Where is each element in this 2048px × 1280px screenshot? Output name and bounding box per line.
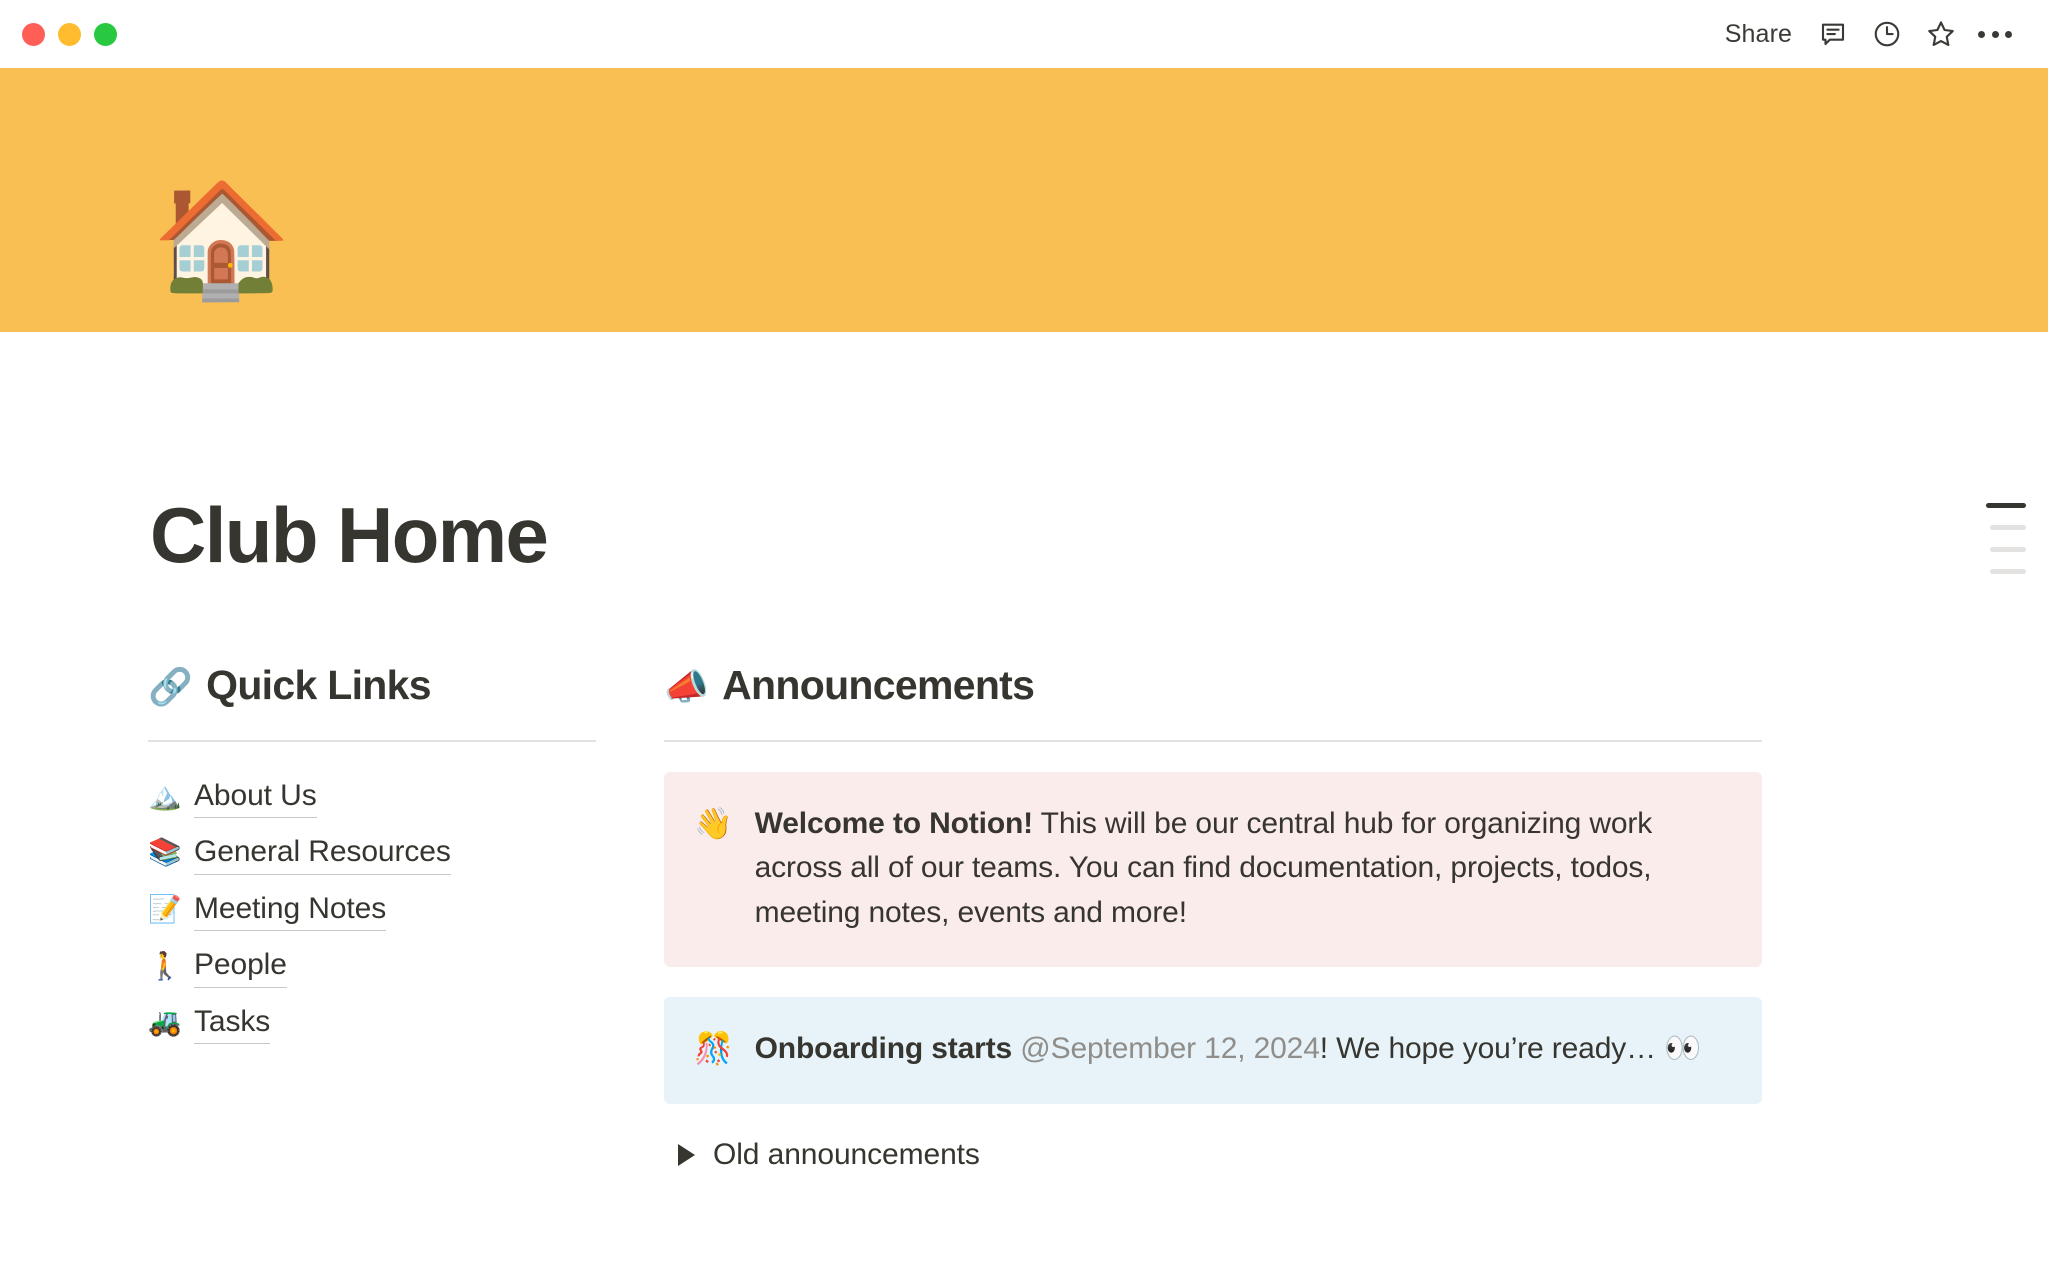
quick-link-about-us[interactable]: 🏔️ About Us bbox=[148, 768, 596, 825]
mountain-icon: 🏔️ bbox=[148, 783, 182, 810]
megaphone-icon: 📣 bbox=[664, 670, 708, 706]
callout-onboarding-text: Onboarding starts @September 12, 2024! W… bbox=[755, 1027, 1702, 1071]
title-bar-actions: Share bbox=[1711, 11, 2048, 57]
quick-links-divider bbox=[148, 740, 596, 742]
callout-onboarding[interactable]: 🎊 Onboarding starts @September 12, 2024!… bbox=[664, 997, 1762, 1103]
tractor-icon: 🚜 bbox=[148, 1009, 182, 1036]
outline-rail[interactable] bbox=[1972, 503, 2026, 574]
quick-link-label[interactable]: About Us bbox=[194, 775, 317, 819]
close-window-button[interactable] bbox=[22, 23, 45, 46]
books-icon: 📚 bbox=[148, 839, 182, 866]
star-icon[interactable] bbox=[1914, 11, 1968, 57]
quick-link-label[interactable]: General Resources bbox=[194, 831, 451, 875]
quick-link-tasks[interactable]: 🚜 Tasks bbox=[148, 994, 596, 1051]
clock-icon[interactable] bbox=[1860, 11, 1914, 57]
announcements-column: 📣 Announcements 👋 Welcome to Notion! Thi… bbox=[664, 662, 1762, 1172]
house-icon[interactable]: 🏠 bbox=[152, 178, 276, 302]
app-window: Share bbox=[0, 0, 2048, 1280]
memo-icon: 📝 bbox=[148, 896, 182, 923]
quick-link-label[interactable]: People bbox=[194, 944, 287, 988]
share-button[interactable]: Share bbox=[1711, 13, 1806, 56]
callout-welcome-bold: Welcome to Notion! bbox=[755, 807, 1033, 840]
title-bar: Share bbox=[0, 0, 2048, 68]
page-cover[interactable] bbox=[0, 68, 2048, 332]
old-announcements-toggle[interactable]: Old announcements bbox=[664, 1138, 1762, 1172]
quick-links-heading: 🔗 Quick Links bbox=[148, 662, 596, 709]
quick-links-list: 🏔️ About Us 📚 General Resources 📝 Meetin… bbox=[148, 768, 596, 1051]
quick-link-people[interactable]: 🚶 People bbox=[148, 938, 596, 995]
page-title[interactable]: Club Home bbox=[150, 496, 547, 574]
outline-bar-active[interactable] bbox=[1986, 503, 2026, 508]
minimize-window-button[interactable] bbox=[58, 23, 81, 46]
outline-bar[interactable] bbox=[1990, 569, 2026, 574]
outline-bar[interactable] bbox=[1990, 547, 2026, 552]
date-mention[interactable]: @September 12, 2024 bbox=[1020, 1032, 1319, 1065]
quick-link-meeting-notes[interactable]: 📝 Meeting Notes bbox=[148, 881, 596, 938]
link-icon: 🔗 bbox=[148, 670, 192, 706]
callout-welcome-text: Welcome to Notion! This will be our cent… bbox=[755, 802, 1728, 935]
quick-links-column: 🔗 Quick Links 🏔️ About Us 📚 General Reso… bbox=[148, 662, 596, 1172]
announcements-heading-label: Announcements bbox=[722, 662, 1034, 709]
maximize-window-button[interactable] bbox=[94, 23, 117, 46]
quick-link-label[interactable]: Tasks bbox=[194, 1001, 270, 1045]
chevron-right-icon[interactable] bbox=[678, 1144, 695, 1166]
callout-onboarding-bold: Onboarding starts bbox=[755, 1032, 1012, 1065]
quick-links-heading-label: Quick Links bbox=[206, 662, 431, 709]
two-column-layout: 🔗 Quick Links 🏔️ About Us 📚 General Reso… bbox=[148, 662, 1908, 1172]
comment-icon[interactable] bbox=[1806, 11, 1860, 57]
quick-link-general-resources[interactable]: 📚 General Resources bbox=[148, 825, 596, 882]
more-icon[interactable] bbox=[1968, 11, 2022, 57]
traffic-lights bbox=[22, 23, 117, 46]
announcements-heading: 📣 Announcements bbox=[664, 662, 1762, 709]
page-content: Club Home 🔗 Quick Links 🏔️ About Us 📚 bbox=[0, 332, 2048, 1280]
confetti-icon: 🎊 bbox=[694, 1027, 733, 1071]
waving-hand-icon: 👋 bbox=[694, 802, 733, 935]
outline-bar[interactable] bbox=[1990, 525, 2026, 530]
quick-link-label[interactable]: Meeting Notes bbox=[194, 888, 386, 932]
eyes-icon: 👀 bbox=[1664, 1031, 1701, 1066]
callout-welcome[interactable]: 👋 Welcome to Notion! This will be our ce… bbox=[664, 772, 1762, 967]
walking-person-icon: 🚶 bbox=[148, 953, 182, 980]
callout-onboarding-rest: ! We hope you’re ready… bbox=[1320, 1032, 1664, 1065]
old-announcements-label[interactable]: Old announcements bbox=[713, 1138, 980, 1172]
announcements-divider bbox=[664, 740, 1762, 742]
